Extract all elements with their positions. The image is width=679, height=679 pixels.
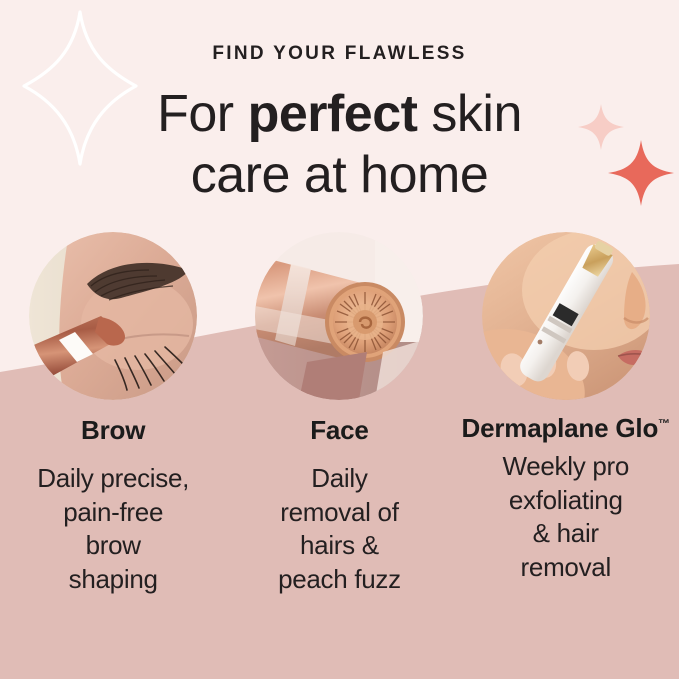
- headline-word-perfect: perfect: [248, 85, 418, 143]
- product-description-face: Daily removal of hairs & peach fuzz: [278, 462, 401, 597]
- product-description-brow: Daily precise, pain-free brow shaping: [37, 462, 189, 597]
- product-column-face[interactable]: Face Daily removal of hairs & peach fuzz: [226, 232, 452, 597]
- product-columns: Brow Daily precise, pain-free brow shapi…: [0, 232, 679, 597]
- headline-line-2: care at home: [0, 145, 679, 206]
- headline-word-skin: skin: [417, 85, 521, 143]
- product-photo-face[interactable]: [255, 232, 423, 400]
- product-description-dermaplane: Weekly pro exfoliating & hair removal: [502, 450, 629, 585]
- headline-line-1: For perfect skin: [0, 84, 679, 145]
- trademark-symbol: ™: [658, 416, 670, 430]
- product-name-face: Face: [310, 416, 368, 446]
- product-column-dermaplane[interactable]: Dermaplane Glo™ Weekly pro exfoliating &…: [453, 232, 679, 597]
- product-photo-dermaplane[interactable]: [482, 232, 650, 400]
- product-name-dermaplane-text: Dermaplane Glo: [462, 413, 659, 443]
- infographic-canvas: FIND YOUR FLAWLESS For perfect skin care…: [0, 0, 679, 679]
- product-photo-brow[interactable]: [29, 232, 197, 400]
- product-name-dermaplane: Dermaplane Glo™: [462, 414, 670, 444]
- page-headline: For perfect skin care at home: [0, 84, 679, 206]
- eyebrow-text: FIND YOUR FLAWLESS: [0, 43, 679, 65]
- headline-word-for: For: [157, 85, 247, 143]
- product-column-brow[interactable]: Brow Daily precise, pain-free brow shapi…: [0, 232, 226, 597]
- product-name-brow: Brow: [81, 416, 145, 446]
